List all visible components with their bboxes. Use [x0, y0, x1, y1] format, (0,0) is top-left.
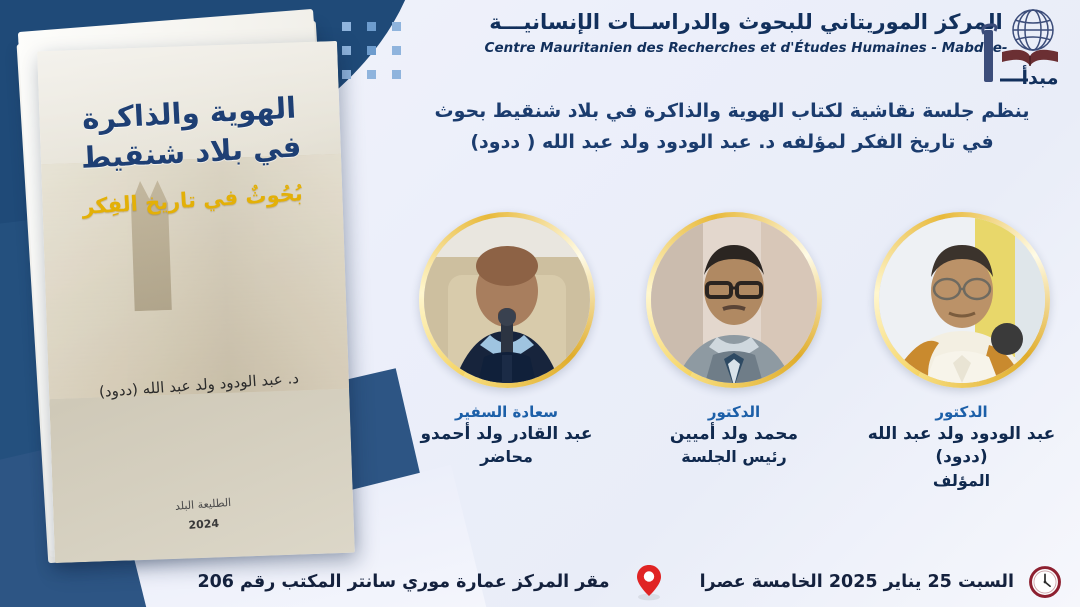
location-pin-icon [634, 563, 664, 601]
book-author: د. عبد الودود ولد عبد الله (ددود) [49, 366, 350, 405]
speaker-name: محمد ولد أميين [632, 423, 837, 446]
poster-footer: السبت 25 يناير 2025 الخامسة عصرا مقر الم… [0, 557, 1080, 607]
speaker-title: الدكتور [859, 402, 1064, 423]
event-datetime: السبت 25 يناير 2025 الخامسة عصرا [700, 572, 1014, 592]
poster-canvas: الهوية والذاكرة في بلاد شنقيط بُحُوثٌ في… [0, 0, 1080, 607]
globe-book-logo-icon: مبدأ [978, 4, 1074, 90]
clock-icon [1028, 565, 1062, 599]
speaker-photo-ring [874, 212, 1050, 388]
event-venue: مقر المركز عمارة موري سانتر المكتب رقم 2… [197, 572, 609, 592]
speakers-row: سعادة السفير عبد القادر ولد أحمدو محاضر [404, 212, 1064, 512]
organization-name-french: Centre Mauritanien des Recherches et d'É… [426, 40, 1066, 56]
speaker-role: رئيس الجلسة [632, 446, 837, 468]
book-title: الهوية والذاكرة في بلاد شنقيط [58, 87, 322, 178]
speaker-photo-ring [646, 212, 822, 388]
speaker-photo-ambassador [424, 217, 590, 383]
logo-word: مبدأ [1021, 65, 1058, 89]
book-subtitle: بُحُوثٌ في تاريخ الفِكر [62, 180, 323, 220]
announcement-line-1: ينظم جلسة نقاشية لكتاب الهوية والذاكرة ف… [412, 96, 1052, 127]
speaker-title: الدكتور [632, 402, 837, 423]
organization-logo: مبدأ [978, 4, 1074, 90]
speaker-title: سعادة السفير [404, 402, 609, 423]
speaker-name: عبد القادر ولد أحمدو [404, 423, 609, 446]
speaker-card-1: سعادة السفير عبد القادر ولد أحمدو محاضر [404, 212, 609, 512]
book-cover: الهوية والذاكرة في بلاد شنقيط بُحُوثٌ في… [37, 41, 355, 563]
poster-header: المركز الموريتاني للبحوث والدراســات الإ… [426, 10, 1066, 56]
speaker-photo-chair [651, 217, 817, 383]
speaker-photo-author [879, 217, 1045, 383]
speaker-name: عبد الودود ولد عبد الله (ددود) [859, 423, 1064, 470]
speaker-role: محاضر [404, 446, 609, 468]
announcement-line-2: في تاريخ الفكر لمؤلفه د. عبد الودود ولد … [412, 127, 1052, 158]
announcement-text: ينظم جلسة نقاشية لكتاب الهوية والذاكرة ف… [412, 96, 1052, 158]
speaker-card-2: الدكتور محمد ولد أميين رئيس الجلسة [632, 212, 837, 512]
speaker-photo-ring [419, 212, 595, 388]
organization-name-arabic: المركز الموريتاني للبحوث والدراســات الإ… [426, 10, 1066, 34]
book-illustration: الهوية والذاكرة في بلاد شنقيط بُحُوثٌ في… [8, 20, 408, 580]
speaker-card-3: الدكتور عبد الودود ولد عبد الله (ددود) ا… [859, 212, 1064, 512]
speaker-role: المؤلف [859, 470, 1064, 492]
